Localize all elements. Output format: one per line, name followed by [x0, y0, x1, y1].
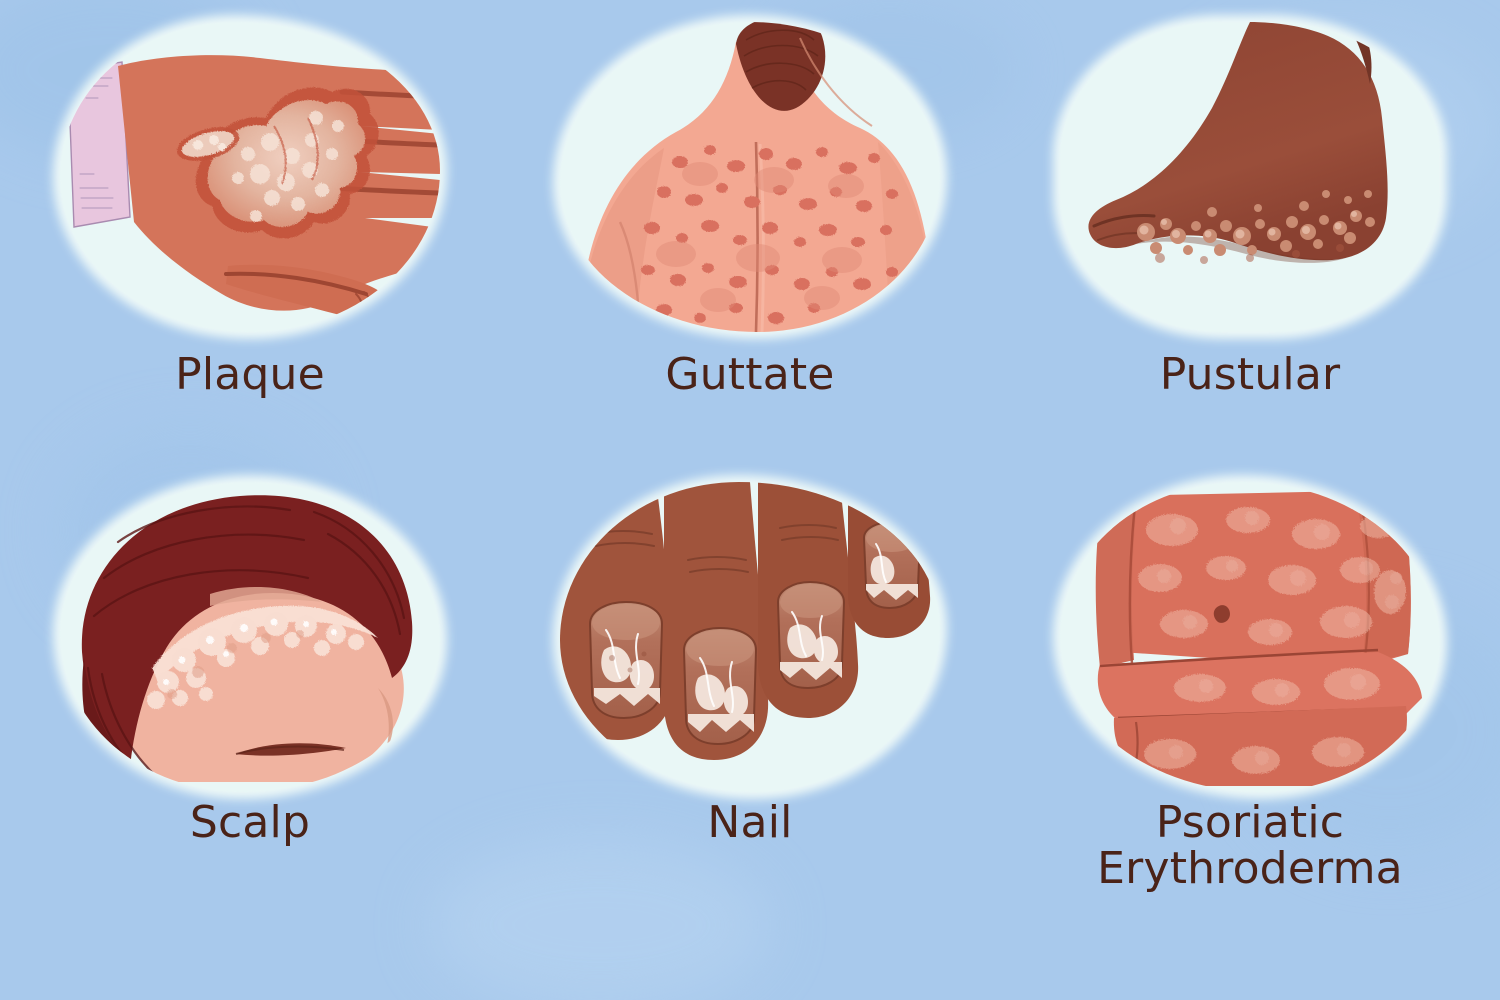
illustration-psoriatic-erythroderma [1060, 482, 1440, 792]
panel-guttate[interactable]: Guttate [500, 0, 1000, 470]
panel-label-psoriatic-erythroderma: Psoriatic Erythroderma [1000, 800, 1500, 892]
illustration-stage [1060, 22, 1440, 332]
nail [684, 628, 756, 744]
back-with-guttate-spots-art [560, 22, 940, 332]
illustration-nail [560, 482, 940, 792]
label-line-1: Guttate [665, 349, 834, 400]
foot-with-pustules-art [1060, 22, 1440, 332]
panel-label-nail: Nail [500, 800, 1000, 846]
illustration-guttate [560, 22, 940, 332]
finger [758, 482, 858, 718]
panel-psoriatic-erythroderma[interactable]: Psoriatic Erythroderma [1000, 470, 1500, 1000]
label-line-1: Psoriatic [1156, 797, 1344, 848]
illustration-stage [560, 482, 940, 792]
torso-with-erythroderma-art [1060, 482, 1440, 792]
illustration-stage [60, 22, 440, 332]
nail [778, 582, 844, 688]
label-line-1: Pustular [1160, 349, 1341, 400]
panel-nail[interactable]: Nail [500, 470, 1000, 1000]
panel-plaque[interactable]: Plaque [0, 0, 500, 470]
illustration-scalp [60, 482, 440, 792]
nail [590, 602, 662, 718]
panel-label-guttate: Guttate [500, 352, 1000, 398]
panel-pustular[interactable]: Pustular [1000, 0, 1500, 470]
panel-label-pustular: Pustular [1000, 352, 1500, 398]
finger [664, 482, 768, 760]
panel-label-scalp: Scalp [0, 800, 500, 846]
illustration-stage [60, 482, 440, 792]
illustration-plaque [60, 22, 440, 332]
illustration-stage [560, 22, 940, 332]
fingers-with-nail-psoriasis-art [560, 482, 940, 792]
finger [848, 482, 930, 638]
label-line-1: Scalp [190, 797, 310, 848]
finger [560, 482, 674, 740]
panel-scalp[interactable]: Scalp [0, 470, 500, 1000]
illustration-stage [1060, 482, 1440, 792]
scalp-with-flakes-art [60, 482, 440, 792]
label-line-2: Erythroderma [1000, 846, 1500, 892]
panel-grid: Plaque [0, 0, 1500, 1000]
label-line-1: Nail [707, 797, 792, 848]
nail [864, 522, 920, 608]
psoriasis-types-infographic: Plaque [0, 0, 1500, 1000]
label-line-1: Plaque [175, 349, 325, 400]
illustration-pustular [1060, 22, 1440, 332]
panel-label-plaque: Plaque [0, 352, 500, 398]
hand-with-plaque-art [60, 22, 440, 332]
